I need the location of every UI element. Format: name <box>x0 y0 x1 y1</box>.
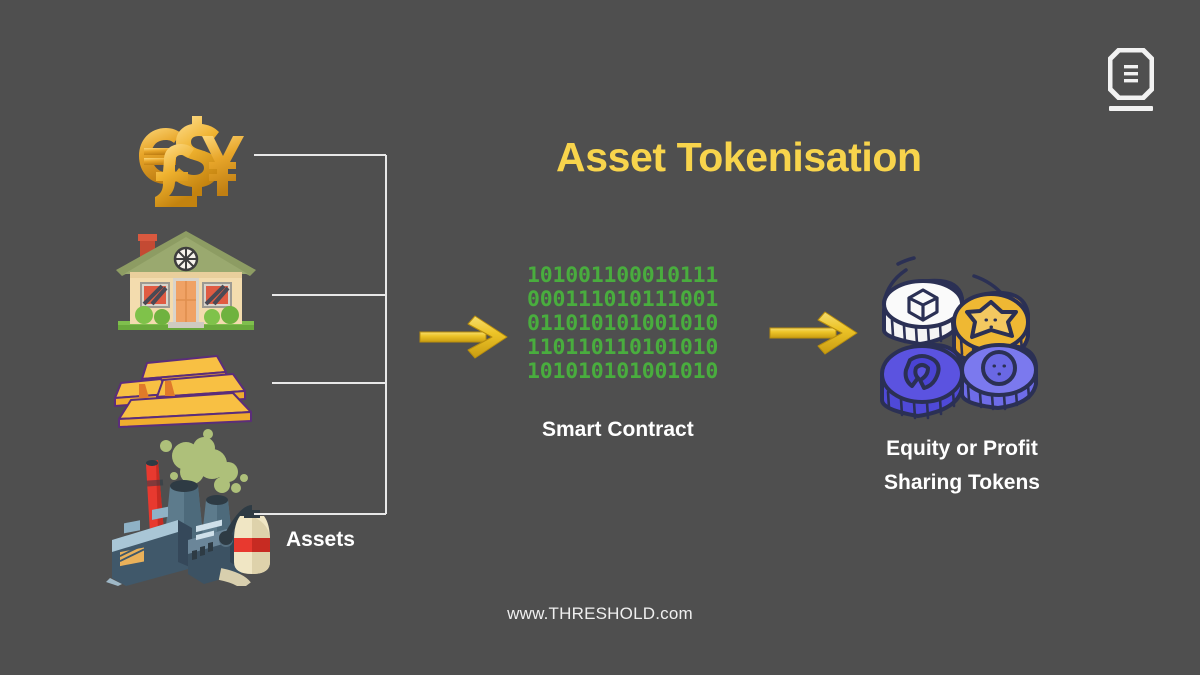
tokens-label-line-2: Sharing Tokens <box>862 466 1062 500</box>
logo-underline <box>1109 106 1153 111</box>
binary-line: 101010101001010 <box>527 360 759 384</box>
page-title: Asset Tokenisation <box>556 134 996 181</box>
house-icon <box>110 226 262 334</box>
stacked-coins-icon <box>862 254 1038 420</box>
assets-bracket <box>250 140 400 530</box>
currency-symbols-icon <box>122 104 244 212</box>
binary-line: 011010101001010 <box>527 312 759 336</box>
slide-canvas: Asset Tokenisation <box>0 0 1200 675</box>
binary-line: 000111010111001 <box>527 288 759 312</box>
document-card-logo-icon <box>1108 48 1154 100</box>
smart-contract-binary-code: 101001100010111 000111010111001 01101010… <box>527 264 759 384</box>
assets-label: Assets <box>286 528 355 552</box>
tokens-label-line-1: Equity or Profit <box>862 432 1062 466</box>
arrow-right-icon <box>768 308 860 358</box>
binary-line: 101001100010111 <box>527 264 759 288</box>
smart-contract-label: Smart Contract <box>542 418 694 442</box>
footer-website-url: www.THRESHOLD.com <box>0 604 1200 624</box>
binary-line: 110110110101010 <box>527 336 759 360</box>
arrow-right-icon <box>418 312 510 362</box>
gold-bars-icon <box>105 350 265 428</box>
tokens-label: Equity or Profit Sharing Tokens <box>862 432 1062 499</box>
brand-logo <box>1108 48 1154 116</box>
